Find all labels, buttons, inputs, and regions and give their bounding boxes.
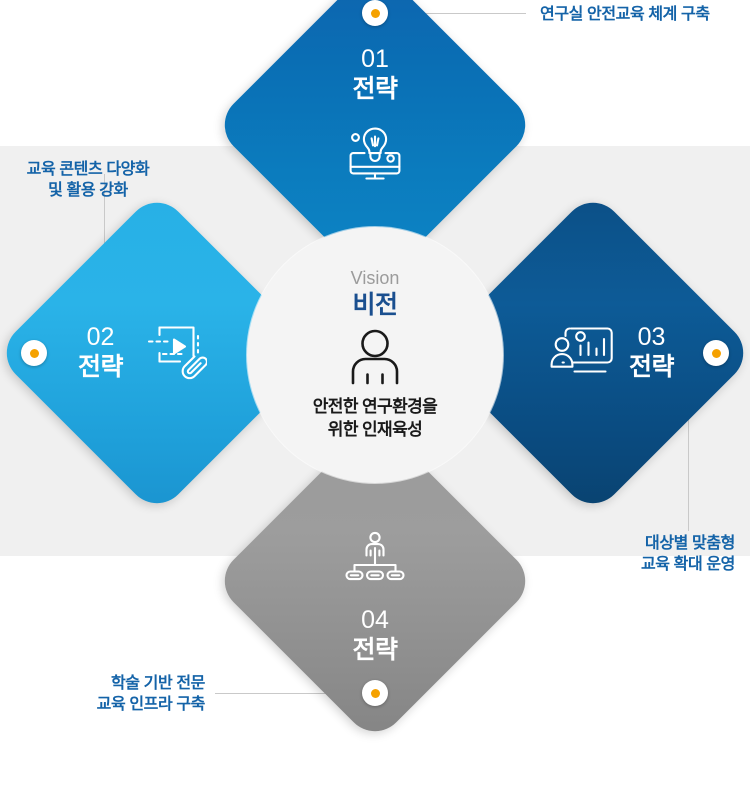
strategy-word-03: 전략 [629, 352, 674, 383]
vision-strategy-diagram: 연구실 안전교육 체계 구축 교육 콘텐츠 다양화 및 활용 강화 대상별 맞춤… [0, 0, 750, 720]
strategy-card-01-content: 01 전략 [260, 10, 490, 240]
caption-strategy-01: 연구실 안전교육 체계 구축 [540, 4, 710, 25]
strategy-number-04: 04 [361, 605, 389, 635]
caption-strategy-02: 교육 콘텐츠 다양화 및 활용 강화 [18, 159, 158, 201]
strategy-card-03-content: 03 전략 [478, 238, 708, 468]
connector-dot-top[interactable] [362, 0, 388, 26]
strategy-number-01: 01 [361, 44, 389, 74]
strategy-word-01: 전략 [352, 74, 397, 105]
strategy-word-02: 전략 [78, 352, 123, 383]
strategy-number-03: 03 [638, 322, 666, 352]
strategy-card-02-labels: 02 전략 [78, 322, 123, 383]
vision-description: 안전한 연구환경을 위한 인재육성 [313, 396, 437, 442]
connector-dot-right[interactable] [703, 340, 729, 366]
presentation-chart-person-icon [549, 324, 615, 383]
vision-circle[interactable]: Vision 비전 안전한 연구환경을 위한 인재육성 [247, 227, 503, 483]
caption-strategy-04: 학술 기반 전문 교육 인프라 구축 [60, 673, 205, 715]
strategy-card-04-content: 04 전략 [260, 466, 490, 696]
strategy-card-02-content: 02 전략 [42, 238, 272, 468]
vision-label-en: Vision [351, 268, 400, 289]
strategy-word-04: 전략 [352, 635, 397, 666]
vision-label-ko: 비전 [352, 290, 397, 320]
connector-dot-left[interactable] [21, 340, 47, 366]
strategy-number-02: 02 [87, 322, 115, 352]
person-icon [348, 329, 402, 390]
lightbulb-monitor-icon [344, 127, 406, 186]
strategy-card-03-labels: 03 전략 [629, 322, 674, 383]
org-chart-icon [345, 531, 405, 589]
video-attachment-icon [137, 322, 207, 385]
caption-strategy-03: 대상별 맞춤형 교육 확대 운영 [595, 533, 735, 575]
connector-dot-bottom[interactable] [362, 680, 388, 706]
